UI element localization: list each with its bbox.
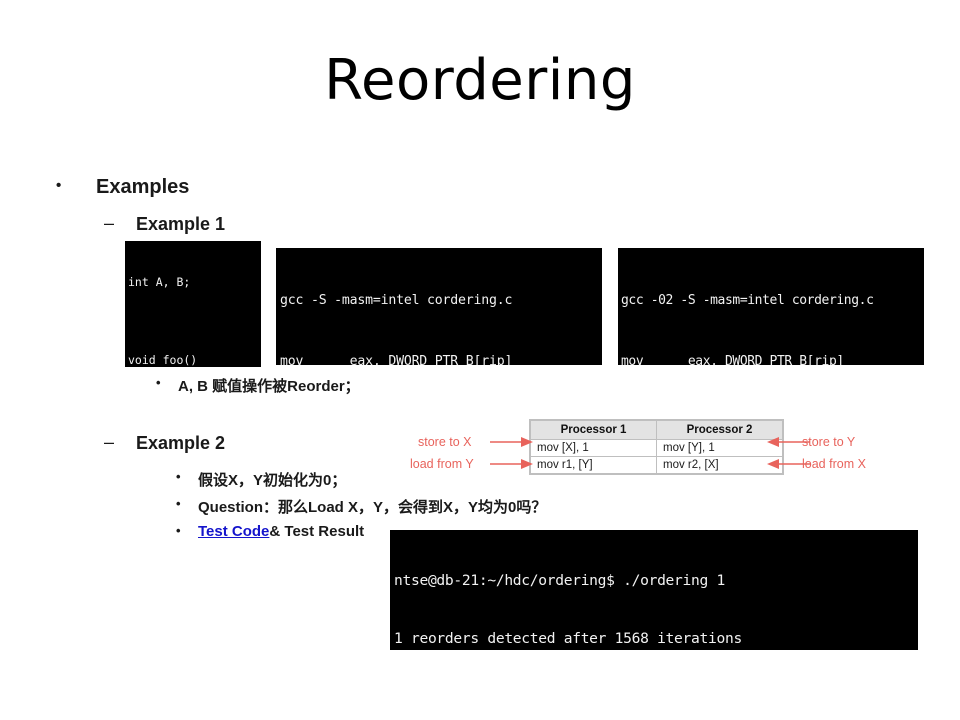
bullet-example-2-assumption: • 假设X，Y初始化为0；: [198, 469, 346, 490]
table-header-processor-1: Processor 1: [531, 421, 657, 440]
code-command-line: gcc -02 -S -masm=intel cordering.c: [621, 291, 924, 311]
bullet-example-1-note: • A, B 赋值操作被Reorder；: [178, 375, 360, 396]
table-row: mov r1, [Y] mov r2, [X]: [531, 457, 783, 474]
code-block-asm-unoptimized: gcc -S -masm=intel cordering.c mov eax, …: [276, 248, 602, 365]
table-cell: mov r2, [X]: [657, 457, 783, 474]
bullet-test-code-result: • Test Code& Test Result: [198, 523, 364, 540]
bullet-dot-icon: •: [56, 177, 61, 194]
code-line: int A, B;: [128, 275, 261, 291]
processor-table: Processor 1 Processor 2 mov [X], 1 mov […: [529, 419, 784, 475]
code-line: void foo(): [128, 353, 261, 367]
bullet-dot-icon: •: [156, 375, 161, 390]
bullet-example-2-question-label: Question：那么Load X，Y，会得到X，Y均为0吗？: [198, 499, 546, 516]
bullet-example-2-label: Example 2: [136, 433, 225, 453]
code-block-c-source: int A, B; void foo() { A = B + 1; B = 0;…: [125, 241, 261, 367]
code-command-line: gcc -S -masm=intel cordering.c: [280, 291, 602, 311]
code-line: mov eax, DWORD PTR B[rip]: [621, 352, 924, 365]
terminal-line: 1 reorders detected after 1568 iteration…: [394, 629, 918, 648]
annotation-load-from-x: load from X: [802, 457, 866, 471]
page-title: Reordering: [0, 48, 960, 113]
test-result-label: & Test Result: [269, 523, 364, 540]
table-cell: mov r1, [Y]: [531, 457, 657, 474]
bullet-dot-icon: •: [176, 469, 181, 484]
code-block-asm-optimized: gcc -02 -S -masm=intel cordering.c mov e…: [618, 248, 924, 365]
arrow-right-icon: [490, 458, 534, 470]
table-cell: mov [X], 1: [531, 440, 657, 457]
bullet-example-1: – Example 1: [136, 214, 225, 235]
annotation-load-from-y: load from Y: [410, 457, 474, 471]
terminal-prompt-line: ntse@db-21:~/hdc/ordering$ ./ordering 1: [394, 571, 918, 590]
slide-canvas: Reordering • Examples – Example 1 int A,…: [0, 0, 960, 720]
terminal-output-block: ntse@db-21:~/hdc/ordering$ ./ordering 1 …: [390, 530, 918, 650]
test-code-link[interactable]: Test Code: [198, 523, 269, 540]
table-header-row: Processor 1 Processor 2: [531, 421, 783, 440]
arrow-left-icon: [766, 436, 810, 448]
table-row: mov [X], 1 mov [Y], 1: [531, 440, 783, 457]
bullet-example-2-assumption-label: 假设X，Y初始化为0；: [198, 472, 346, 489]
bullet-examples: • Examples: [96, 176, 189, 199]
bullet-example-2-question: • Question：那么Load X，Y，会得到X，Y均为0吗？: [198, 496, 546, 517]
annotation-store-to-x: store to X: [418, 435, 472, 449]
dash-icon: –: [104, 213, 114, 234]
bullet-example-2: – Example 2: [136, 433, 225, 454]
table-cell: mov [Y], 1: [657, 440, 783, 457]
bullet-example-1-note-label: A, B 赋值操作被Reorder；: [178, 378, 360, 395]
dash-icon: –: [104, 432, 114, 453]
bullet-dot-icon: •: [176, 496, 181, 511]
bullet-examples-label: Examples: [96, 176, 189, 198]
code-line: mov eax, DWORD PTR B[rip]: [280, 352, 602, 365]
bullet-example-1-label: Example 1: [136, 214, 225, 234]
arrow-left-icon: [766, 458, 810, 470]
table-header-processor-2: Processor 2: [657, 421, 783, 440]
bullet-dot-icon: •: [176, 523, 181, 538]
arrow-right-icon: [490, 436, 534, 448]
